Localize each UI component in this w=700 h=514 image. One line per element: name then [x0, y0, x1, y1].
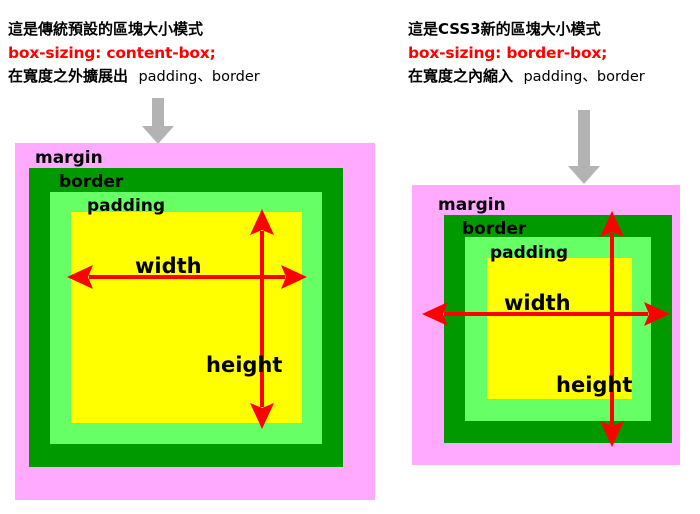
caption-note-prefix: 在寬度之外擴展出	[8, 67, 128, 85]
margin-label: margin	[438, 197, 506, 214]
box-model-content-box: margin border padding width height	[15, 143, 375, 500]
caption-line-description: 這是CSS3新的區塊大小模式	[408, 18, 645, 41]
caption-line-note: 在寬度之外擴展出 padding、border	[8, 65, 260, 88]
caption-line-code: box-sizing: content-box;	[8, 41, 260, 65]
width-label: width	[504, 293, 571, 314]
padding-label: padding	[490, 245, 568, 262]
height-arrow	[600, 211, 624, 447]
caption-note-properties: padding、border	[138, 69, 259, 85]
diagram-canvas: 這是傳統預設的區塊大小模式 box-sizing: content-box; 在…	[0, 0, 700, 514]
caption-line-description: 這是傳統預設的區塊大小模式	[8, 18, 260, 41]
border-label: border	[462, 221, 526, 238]
caption-content-box: 這是傳統預設的區塊大小模式 box-sizing: content-box; 在…	[8, 18, 260, 89]
height-label: height	[206, 355, 282, 376]
width-label: width	[135, 256, 202, 277]
border-label: border	[59, 174, 123, 191]
height-arrow	[250, 209, 274, 429]
down-arrow-icon	[566, 110, 602, 186]
box-model-border-box: margin border padding width height	[412, 185, 680, 465]
padding-label: padding	[87, 198, 165, 215]
caption-line-code: box-sizing: border-box;	[408, 41, 645, 65]
caption-note-prefix: 在寬度之內縮入	[408, 67, 513, 85]
caption-border-box: 這是CSS3新的區塊大小模式 box-sizing: border-box; 在…	[408, 18, 645, 89]
down-arrow-icon	[140, 98, 176, 146]
height-label: height	[556, 375, 632, 396]
margin-label: margin	[35, 150, 103, 167]
caption-note-properties: padding、border	[523, 69, 644, 85]
caption-line-note: 在寬度之內縮入 padding、border	[408, 65, 645, 88]
